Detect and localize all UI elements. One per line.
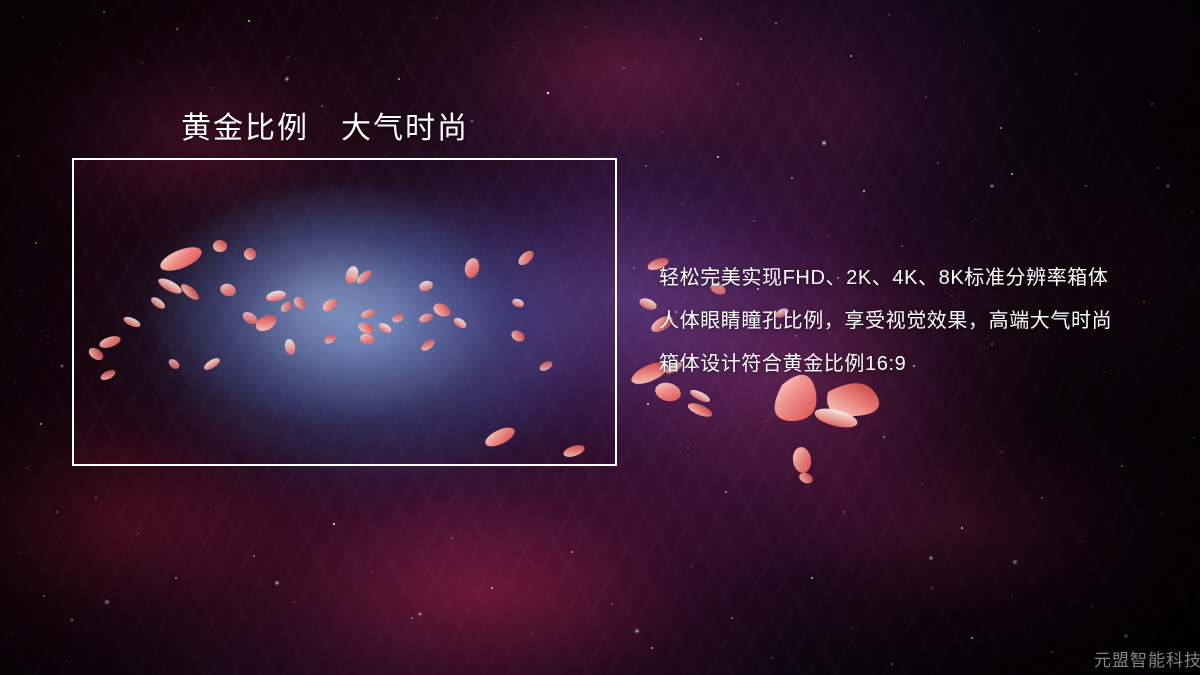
framed-picture-overlay bbox=[74, 160, 615, 464]
body-line-1: 轻松完美实现FHD、2K、4K、8K标准分辨率箱体 bbox=[659, 257, 1179, 300]
page-title: 黄金比例 大气时尚 bbox=[181, 103, 469, 147]
framed-picture[interactable] bbox=[72, 158, 617, 466]
body-line-3: 箱体设计符合黄金比例16:9 bbox=[659, 343, 1179, 386]
watermark-label: 元盟智能科技 bbox=[1094, 646, 1200, 671]
body-line-2: 人体眼睛瞳孔比例，享受视觉效果，高端大气时尚 bbox=[659, 300, 1179, 343]
slide-canvas: 黄金比例 大气时尚 轻松完美实现FHD、2K、4K、8K标准分辨率箱体 人体眼睛… bbox=[0, 0, 1200, 675]
body-copy-block: 轻松完美实现FHD、2K、4K、8K标准分辨率箱体 人体眼睛瞳孔比例，享受视觉效… bbox=[659, 257, 1179, 386]
